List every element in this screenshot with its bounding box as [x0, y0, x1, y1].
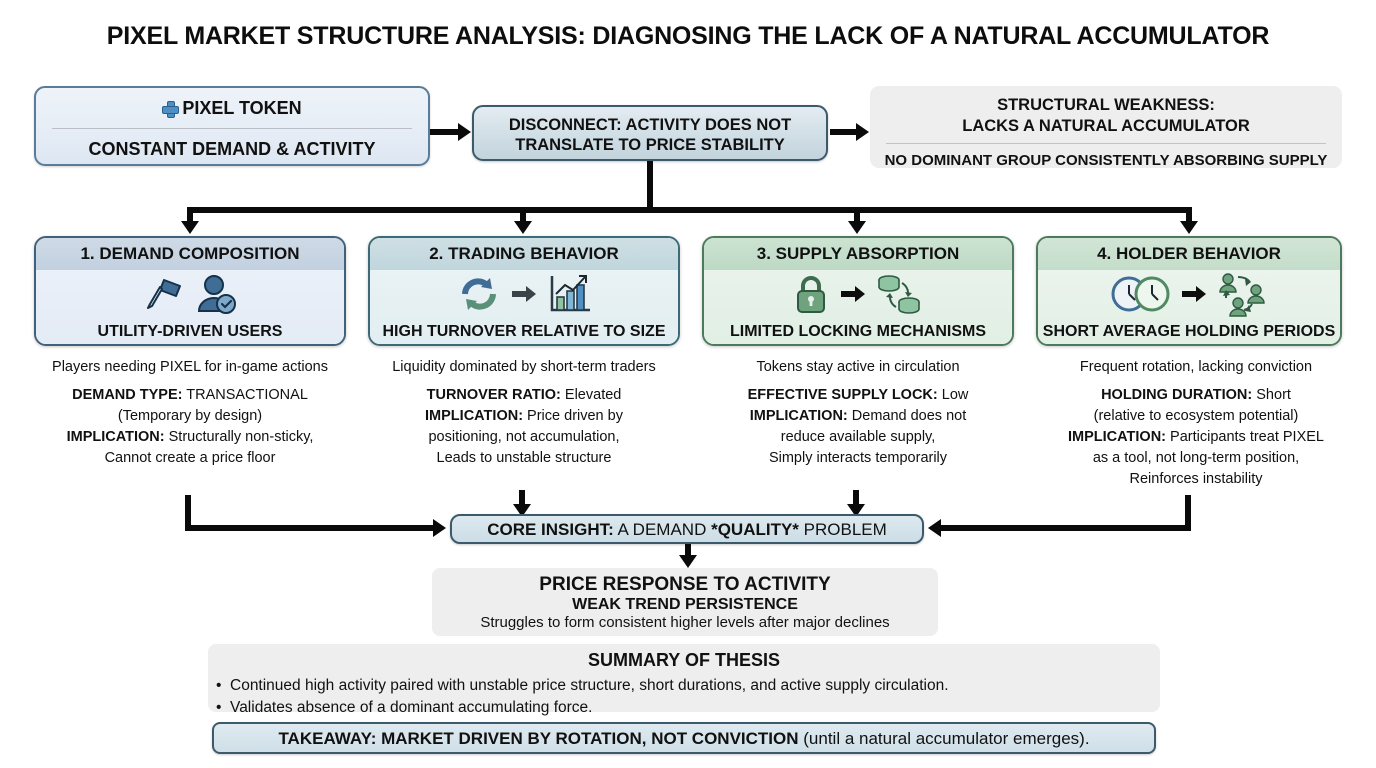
- cycle-arrows-icon: [456, 272, 502, 316]
- pillar-card-2[interactable]: 2. TRADING BEHAVIOR: [368, 236, 680, 346]
- connector-pillar-4-left: [941, 525, 1191, 531]
- summary-title: SUMMARY OF THESIS: [208, 650, 1160, 671]
- pillar-3-caption: LIMITED LOCKING MECHANISMS: [704, 323, 1012, 341]
- pillar-4-lead: Frequent rotation, lacking conviction: [1022, 358, 1370, 377]
- core-insight-text-a: A DEMAND: [614, 520, 711, 539]
- pixel-cross-icon: [162, 101, 177, 116]
- weakness-subtitle: NO DOMINANT GROUP CONSISTENTLY ABSORBING…: [870, 144, 1342, 169]
- takeaway-bold: TAKEAWAY: MARKET DRIVEN BY ROTATION, NOT…: [278, 729, 798, 748]
- core-insight-box: CORE INSIGHT: A DEMAND *QUALITY* PROBLEM: [450, 514, 924, 544]
- connector-token-to-disconnect: [430, 129, 460, 135]
- pillar-3-row-0: EFFECTIVE SUPPLY LOCK: Low: [690, 386, 1026, 405]
- diagram-canvas: PIXEL MARKET STRUCTURE ANALYSIS: DIAGNOS…: [0, 0, 1376, 768]
- pillar-1-caption: UTILITY-DRIVEN USERS: [36, 323, 344, 341]
- weakness-line-2: LACKS A NATURAL ACCUMULATOR: [870, 116, 1342, 137]
- pillar-1-lead: Players needing PIXEL for in-game action…: [22, 358, 358, 377]
- arrow-pillar-4-to-core: [928, 519, 941, 537]
- lock-icon: [791, 272, 831, 316]
- pillar-1-row-2: IMPLICATION: Structurally non-sticky,: [22, 428, 358, 447]
- connector-pillar-1-down: [185, 495, 191, 528]
- pillar-3-row-2: reduce available supply,: [690, 428, 1026, 447]
- pixel-token-title: PIXEL TOKEN: [36, 88, 428, 119]
- disconnect-line-2: TRANSLATE TO PRICE STABILITY: [474, 135, 826, 155]
- summary-list: Continued high activity paired with unst…: [208, 675, 1160, 719]
- takeaway-tail: (until a natural accumulator emerges).: [799, 729, 1090, 748]
- pillar-1-row-0: DEMAND TYPE: TRANSACTIONAL: [22, 386, 358, 405]
- pillar-2-row-3: Leads to unstable structure: [356, 449, 692, 468]
- people-rotation-icon: [1216, 271, 1268, 317]
- connector-pillar-4-down: [1185, 495, 1191, 528]
- arrow-right-icon: [510, 283, 538, 305]
- core-insight-emphasis: *QUALITY*: [711, 520, 799, 539]
- disconnect-box: DISCONNECT: ACTIVITY DOES NOT TRANSLATE …: [472, 105, 828, 161]
- pillar-card-3[interactable]: 3. SUPPLY ABSORPTION: [702, 236, 1014, 346]
- connector-disconnect-to-weakness: [830, 129, 858, 135]
- pillar-4-text: Frequent rotation, lacking conviction HO…: [1022, 358, 1370, 491]
- arrow-right-icon: [839, 283, 867, 305]
- pillar-1-row-1: (Temporary by design): [22, 407, 358, 426]
- two-clocks-icon: [1110, 272, 1172, 316]
- pillar-4-row-1: (relative to ecosystem potential): [1022, 407, 1370, 426]
- pillar-2-row-1: IMPLICATION: Price driven by: [356, 407, 692, 426]
- bar-chart-trend-icon: [546, 272, 592, 316]
- pillar-3-row-3: Simply interacts temporarily: [690, 449, 1026, 468]
- arrow-to-pillar-2: [514, 221, 532, 234]
- pixel-token-box: PIXEL TOKEN CONSTANT DEMAND & ACTIVITY: [34, 86, 430, 166]
- disconnect-line-1: DISCONNECT: ACTIVITY DOES NOT: [474, 115, 826, 135]
- pillar-1-row-3: Cannot create a price floor: [22, 449, 358, 468]
- arrow-to-pillar-3: [848, 221, 866, 234]
- arrow-core-to-price: [679, 555, 697, 568]
- pixel-token-subtitle: CONSTANT DEMAND & ACTIVITY: [36, 129, 428, 160]
- pillar-2-text: Liquidity dominated by short-term trader…: [356, 358, 692, 470]
- database-rotation-icon: [875, 271, 925, 317]
- pillar-3-text: Tokens stay active in circulation EFFECT…: [690, 358, 1026, 470]
- pillar-card-4[interactable]: 4. HOLDER BEHAVIOR: [1036, 236, 1342, 346]
- arrow-to-pillar-1: [181, 221, 199, 234]
- pillar-2-row-0: TURNOVER RATIO: Elevated: [356, 386, 692, 405]
- summary-bullet-0: Continued high activity paired with unst…: [208, 675, 1160, 697]
- arrow-pillar-1-to-core: [433, 519, 446, 537]
- arrow-right-icon: [1180, 283, 1208, 305]
- summary-bullet-1: Validates absence of a dominant accumula…: [208, 697, 1160, 719]
- pillar-4-header: 4. HOLDER BEHAVIOR: [1038, 238, 1340, 270]
- pillar-4-caption: SHORT AVERAGE HOLDING PERIODS: [1038, 323, 1340, 341]
- pillar-4-row-2: IMPLICATION: Participants treat PIXEL: [1022, 428, 1370, 447]
- summary-box: SUMMARY OF THESIS Continued high activit…: [208, 644, 1160, 712]
- hammer-icon: [142, 274, 186, 314]
- connector-disconnect-drop: [647, 161, 653, 211]
- takeaway-box: TAKEAWAY: MARKET DRIVEN BY ROTATION, NOT…: [212, 722, 1156, 754]
- connector-distribution-bus: [190, 207, 1192, 213]
- price-response-box: PRICE RESPONSE TO ACTIVITY WEAK TREND PE…: [432, 568, 938, 636]
- arrow-to-pillar-4: [1180, 221, 1198, 234]
- price-response-line-2: WEAK TREND PERSISTENCE: [432, 596, 938, 614]
- pillar-3-lead: Tokens stay active in circulation: [690, 358, 1026, 377]
- pillar-2-row-2: positioning, not accumulation,: [356, 428, 692, 447]
- pillar-2-header: 2. TRADING BEHAVIOR: [370, 238, 678, 270]
- pillar-card-1[interactable]: 1. DEMAND COMPOSITION UTILITY: [34, 236, 346, 346]
- pillar-1-text: Players needing PIXEL for in-game action…: [22, 358, 358, 470]
- structural-weakness-box: STRUCTURAL WEAKNESS: LACKS A NATURAL ACC…: [870, 86, 1342, 168]
- pillar-4-row-3: as a tool, not long-term position,: [1022, 449, 1370, 468]
- pillar-1-header: 1. DEMAND COMPOSITION: [36, 238, 344, 270]
- pillar-3-row-1: IMPLICATION: Demand does not: [690, 407, 1026, 426]
- core-insight-label: CORE INSIGHT:: [487, 520, 614, 539]
- pillar-2-caption: HIGH TURNOVER RELATIVE TO SIZE: [370, 323, 678, 341]
- arrow-disconnect-to-weakness: [856, 123, 869, 141]
- pillar-4-row-4: Reinforces instability: [1022, 470, 1370, 489]
- price-response-line-3: Struggles to form consistent higher leve…: [432, 614, 938, 631]
- pillar-2-lead: Liquidity dominated by short-term trader…: [356, 358, 692, 377]
- pillar-3-header: 3. SUPPLY ABSORPTION: [704, 238, 1012, 270]
- pillar-4-row-0: HOLDING DURATION: Short: [1022, 386, 1370, 405]
- connector-pillar-1-right: [185, 525, 435, 531]
- arrow-token-to-disconnect: [458, 123, 471, 141]
- page-title: PIXEL MARKET STRUCTURE ANALYSIS: DIAGNOS…: [0, 22, 1376, 51]
- price-response-line-1: PRICE RESPONSE TO ACTIVITY: [432, 574, 938, 596]
- weakness-line-1: STRUCTURAL WEAKNESS:: [870, 95, 1342, 116]
- user-verified-icon: [194, 273, 238, 315]
- core-insight-text-b: PROBLEM: [799, 520, 887, 539]
